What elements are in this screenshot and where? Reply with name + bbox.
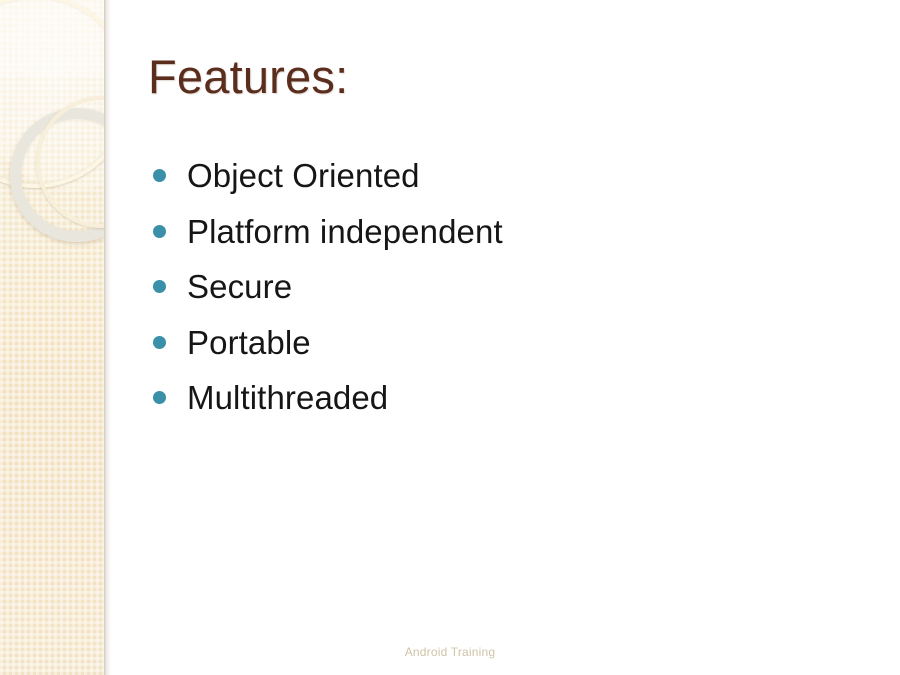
feature-bullet-list: Object Oriented Platform independent Sec… (153, 148, 503, 426)
list-item: Multithreaded (153, 370, 503, 426)
slide-footer: Android Training (0, 645, 900, 659)
list-item: Secure (153, 259, 503, 315)
presentation-slide: Features: Object Oriented Platform indep… (0, 0, 900, 675)
list-item: Platform independent (153, 204, 503, 260)
bullet-dot-icon (153, 336, 166, 349)
decorative-sidebar (0, 0, 104, 675)
sidebar-edge-shadow (104, 0, 111, 675)
bullet-dot-icon (153, 391, 166, 404)
list-item: Portable (153, 315, 503, 371)
list-item-label: Secure (187, 270, 292, 303)
page-title: Features: (148, 51, 348, 103)
list-item: Object Oriented (153, 148, 503, 204)
list-item-label: Platform independent (187, 215, 503, 248)
list-item-label: Object Oriented (187, 159, 420, 192)
slide-content: Features: Object Oriented Platform indep… (111, 0, 900, 675)
list-item-label: Portable (187, 326, 311, 359)
bullet-dot-icon (153, 280, 166, 293)
bullet-dot-icon (153, 225, 166, 238)
bullet-dot-icon (153, 169, 166, 182)
list-item-label: Multithreaded (187, 381, 388, 414)
